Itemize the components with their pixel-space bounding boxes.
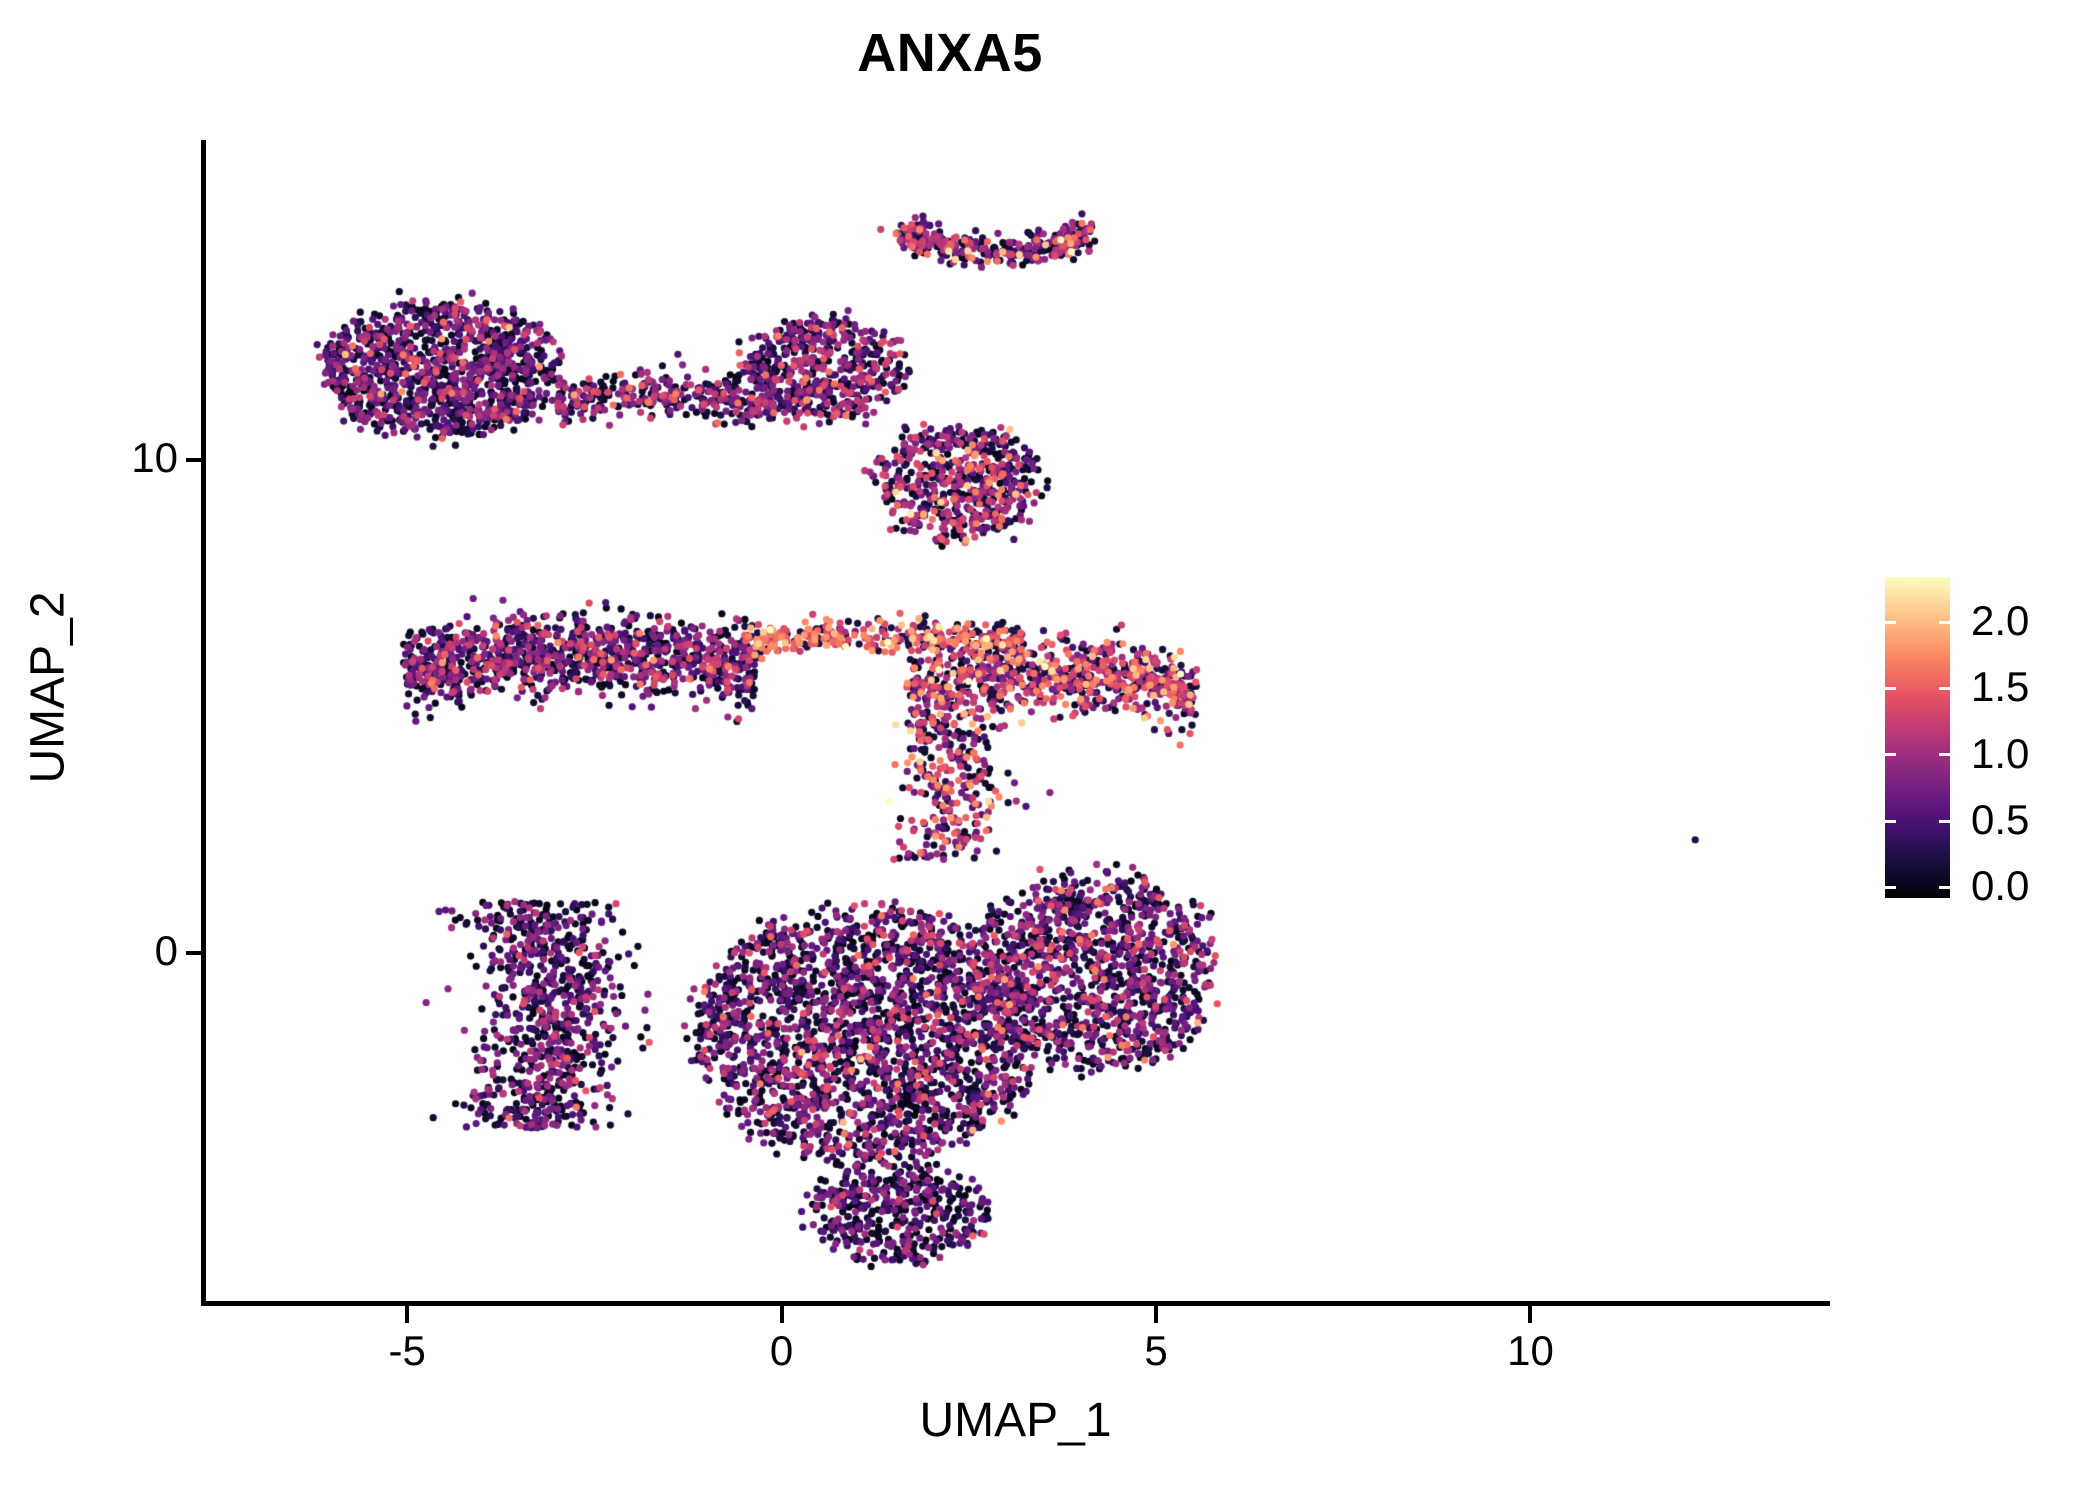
colorbar-tick-label: 2.0 (1971, 600, 2029, 642)
page-title: ANXA5 (0, 22, 1900, 84)
chart-root: ANXA5 010 -50510 UMAP_1 UMAP_2 0.00.51.0… (0, 0, 2100, 1500)
colorbar-tick-mark (1885, 886, 1896, 889)
x-tick-label: 10 (1450, 1327, 1610, 1375)
x-tick-mark (1528, 1306, 1532, 1323)
x-tick-mark (780, 1306, 784, 1323)
y-axis-title: UMAP_2 (21, 388, 76, 988)
colorbar-tick-mark (1939, 886, 1950, 889)
x-tick-mark (405, 1306, 409, 1323)
colorbar-tick-mark (1885, 753, 1896, 756)
y-axis-line (201, 140, 206, 1306)
colorbar-tick-label: 0.0 (1971, 865, 2029, 907)
x-tick-label: -5 (327, 1327, 487, 1375)
colorbar-tick-mark (1939, 687, 1950, 690)
colorbar-tick-mark (1939, 621, 1950, 624)
x-tick-mark (1154, 1306, 1158, 1323)
colorbar-gradient (1885, 577, 1950, 898)
y-tick-mark (186, 951, 202, 955)
plot-panel (205, 140, 1830, 1303)
y-tick-mark (186, 458, 202, 462)
colorbar-legend: 0.00.51.01.52.0 (1885, 577, 2085, 898)
colorbar-tick-label: 1.0 (1971, 733, 2029, 775)
x-axis-title: UMAP_1 (201, 1393, 1830, 1448)
colorbar-tick-label: 1.5 (1971, 666, 2029, 708)
scatter-plot-canvas (205, 140, 1830, 1303)
colorbar-tick-mark (1885, 820, 1896, 823)
colorbar-tick-mark (1885, 687, 1896, 690)
colorbar-tick-mark (1939, 753, 1950, 756)
x-tick-label: 0 (702, 1327, 862, 1375)
x-axis-line (201, 1301, 1830, 1306)
x-tick-label: 5 (1076, 1327, 1236, 1375)
colorbar-tick-mark (1885, 621, 1896, 624)
colorbar-tick-label: 0.5 (1971, 799, 2029, 841)
colorbar-tick-mark (1939, 820, 1950, 823)
